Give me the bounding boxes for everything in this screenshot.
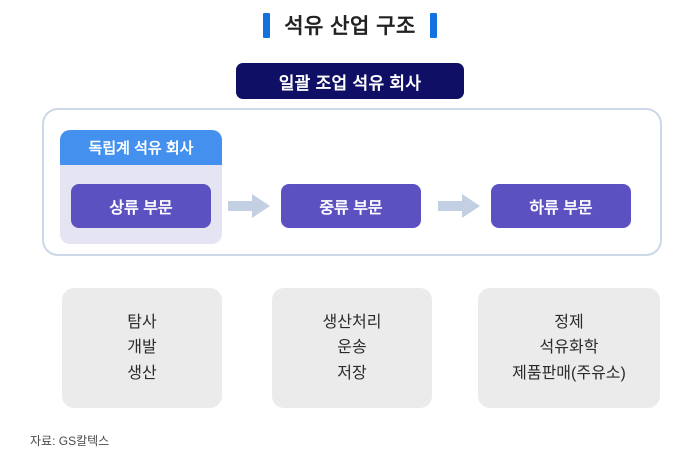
stage-downstream-label: 하류 부문 (529, 194, 592, 218)
detail-line: 생산 (127, 364, 156, 383)
detail-line: 제품판매(주유소) (512, 364, 626, 383)
detail-line: 탐사 (127, 313, 156, 332)
detail-line: 저장 (337, 364, 366, 383)
independent-oil-company-label: 독립계 석유 회사 (89, 137, 194, 158)
independent-oil-company-tab: 독립계 석유 회사 (60, 130, 222, 165)
stage-downstream: 하류 부문 (491, 184, 631, 228)
stage-upstream: 상류 부문 (71, 184, 211, 228)
detail-box-downstream: 정제 석유화학 제품판매(주유소) (478, 288, 660, 408)
title-text: 석유 산업 구조 (284, 10, 416, 40)
integrated-oil-company-label: 일괄 조업 석유 회사 (279, 69, 422, 94)
detail-box-upstream: 탐사 개발 생산 (62, 288, 222, 408)
detail-line: 생산처리 (323, 313, 382, 332)
stage-midstream-label: 중류 부문 (319, 194, 382, 218)
detail-line: 정제 (554, 313, 583, 332)
page-title: 석유 산업 구조 (0, 8, 700, 42)
arrow-midstream-to-downstream-icon (438, 193, 480, 219)
source-note: 자료: GS칼텍스 (30, 432, 109, 449)
integrated-oil-company-chip: 일괄 조업 석유 회사 (236, 63, 464, 99)
stage-midstream: 중류 부문 (281, 184, 421, 228)
detail-line: 개발 (127, 338, 156, 357)
arrow-upstream-to-midstream-icon (228, 193, 270, 219)
title-accent-bar-left (263, 13, 270, 38)
detail-line: 운송 (337, 338, 366, 357)
stage-upstream-label: 상류 부문 (109, 194, 172, 218)
detail-box-midstream: 생산처리 운송 저장 (272, 288, 432, 408)
title-accent-bar-right (430, 13, 437, 38)
detail-line: 석유화학 (540, 338, 599, 357)
